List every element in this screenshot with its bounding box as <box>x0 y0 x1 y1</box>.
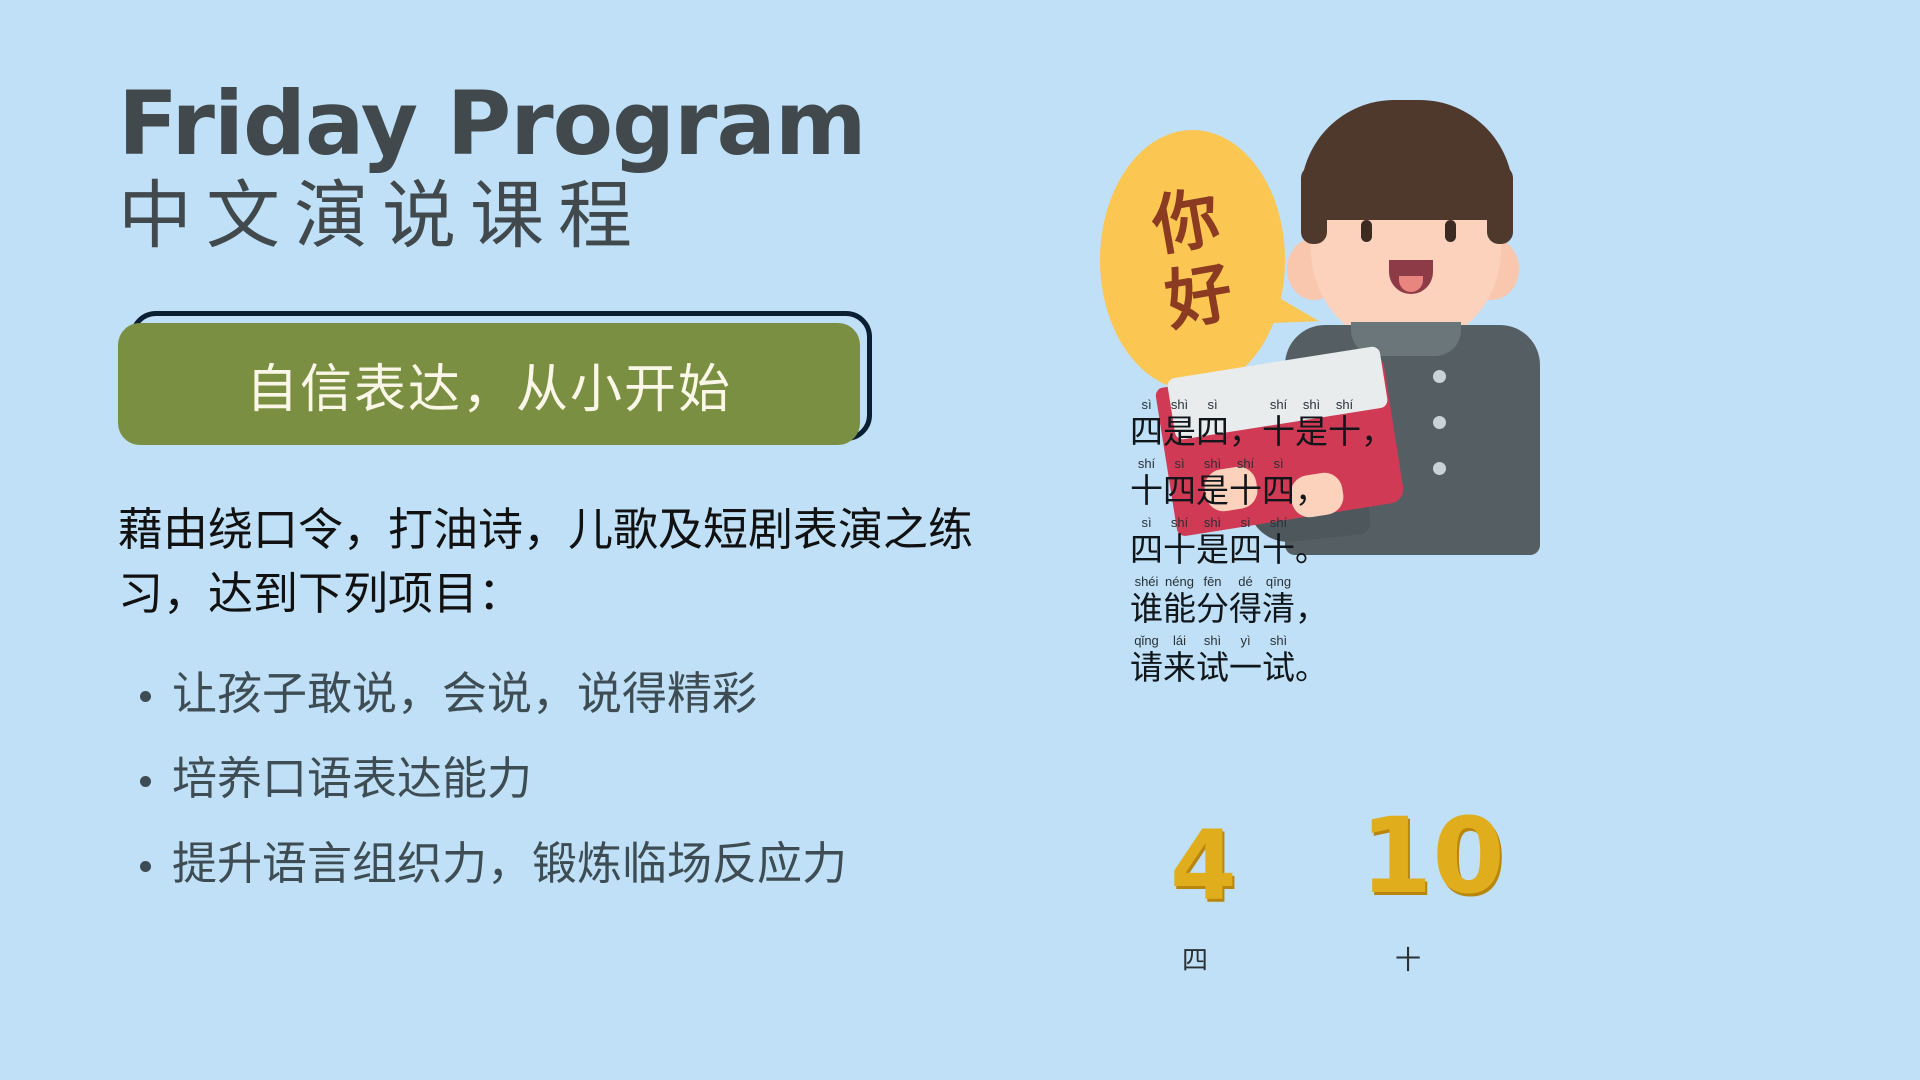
hanzi-glyph: 是 <box>1196 531 1229 569</box>
hanzi-glyph: 一 <box>1229 649 1262 687</box>
hanzi-glyph: 是 <box>1196 472 1229 510</box>
list-item: 培养口语表达能力 <box>118 756 1038 801</box>
hanzi-glyph: 来 <box>1163 649 1196 687</box>
tongue-twister-char: shí十 <box>1229 457 1262 510</box>
hanzi-glyph: 谁 <box>1130 590 1163 628</box>
tongue-twister-char: shí十 <box>1262 398 1295 451</box>
page-title-chinese: 中文演说课程 <box>118 174 1038 259</box>
hanzi-glyph: 四 <box>1130 531 1163 569</box>
speech-bubble-line-2: 好 <box>1160 254 1238 340</box>
hanzi-glyph: 四 <box>1229 531 1262 569</box>
hanzi-glyph: 四 <box>1262 472 1295 510</box>
hanzi-glyph: 是 <box>1163 413 1196 451</box>
hair-icon <box>1301 100 1513 220</box>
tongue-twister-line: sì四shí十shì是sì四shí十。 <box>1130 516 1550 569</box>
hanzi-glyph: 四 <box>1130 413 1163 451</box>
hanzi-glyph: 十 <box>1262 413 1295 451</box>
hanzi-glyph: 分 <box>1196 590 1229 628</box>
hanzi-glyph: 十 <box>1163 531 1196 569</box>
pinyin-label: qīng <box>1262 575 1295 590</box>
pinyin-label: shí <box>1130 457 1163 472</box>
hanzi-glyph: 是 <box>1295 413 1328 451</box>
pinyin-label: shì <box>1196 516 1229 531</box>
tongue-twister-char: shéi谁 <box>1130 575 1163 628</box>
benefits-list: 让孩子敢说，会说，说得精彩 培养口语表达能力 提升语言组织力，锻炼临场反应力 <box>118 671 1038 886</box>
hanzi-glyph: 试 <box>1196 649 1229 687</box>
pinyin-label: sì <box>1163 457 1196 472</box>
tongue-twister-char: yì一 <box>1229 634 1262 687</box>
page-title-english: Friday Program <box>118 80 1038 168</box>
shirt-button-icon <box>1433 370 1446 383</box>
gold-number-4-label: 四 <box>1182 940 1208 977</box>
pinyin-label: fēn <box>1196 575 1229 590</box>
hair-side-left-icon <box>1301 166 1327 244</box>
eye-right-icon <box>1445 220 1456 242</box>
left-content-column: Friday Program 中文演说课程 自信表达，从小开始 藉由绕口令，打油… <box>118 80 1038 926</box>
punctuation-glyph: ， <box>1361 413 1394 451</box>
hanzi-glyph: 清 <box>1262 590 1295 628</box>
punctuation-glyph: 。 <box>1295 531 1328 569</box>
pinyin-label: shí <box>1262 516 1295 531</box>
pinyin-label: yì <box>1229 634 1262 649</box>
pinyin-label: dé <box>1229 575 1262 590</box>
tagline-badge-label: 自信表达，从小开始 <box>246 347 732 422</box>
hanzi-glyph: 十 <box>1328 413 1361 451</box>
tongue-twister-char: shí十 <box>1163 516 1196 569</box>
tongue-twister-char: shì试 <box>1196 634 1229 687</box>
pinyin-label: sì <box>1229 516 1262 531</box>
hanzi-glyph: 四 <box>1163 472 1196 510</box>
pinyin-label: shí <box>1262 398 1295 413</box>
hanzi-glyph: 请 <box>1130 649 1163 687</box>
tongue-twister-char: qǐng请 <box>1130 634 1163 687</box>
pinyin-label: lái <box>1163 634 1196 649</box>
tongue-twister-char: dé得 <box>1229 575 1262 628</box>
tongue-twister-line: sì四shì是sì四，shí十shì是shí十， <box>1130 398 1550 451</box>
pinyin-label: shì <box>1196 457 1229 472</box>
tongue-twister-char: sì四 <box>1229 516 1262 569</box>
pinyin-label: qǐng <box>1130 634 1163 649</box>
tongue-twister-char: shì是 <box>1196 457 1229 510</box>
list-item: 提升语言组织力，锻炼临场反应力 <box>118 841 1038 886</box>
pinyin-label: shì <box>1262 634 1295 649</box>
tongue-twister-text: sì四shì是sì四，shí十shì是shí十，shí十sì四shì是shí十s… <box>1130 398 1550 693</box>
tongue-twister-char: sì四 <box>1130 398 1163 451</box>
tongue-twister-line: qǐng请lái来shì试yì一shì试。 <box>1130 634 1550 687</box>
hanzi-glyph: 十 <box>1130 472 1163 510</box>
hair-side-right-icon <box>1487 166 1513 244</box>
tongue-twister-char: néng能 <box>1163 575 1196 628</box>
pinyin-label: shéi <box>1130 575 1163 590</box>
pinyin-label: shí <box>1163 516 1196 531</box>
hanzi-glyph: 能 <box>1163 590 1196 628</box>
tongue-twister-char: shí十 <box>1328 398 1361 451</box>
pinyin-label: néng <box>1163 575 1196 590</box>
tongue-twister-char: lái来 <box>1163 634 1196 687</box>
tongue-twister-line: shí十sì四shì是shí十sì四， <box>1130 457 1550 510</box>
tagline-badge[interactable]: 自信表达，从小开始 <box>118 301 888 456</box>
poster-canvas: Friday Program 中文演说课程 自信表达，从小开始 藉由绕口令，打油… <box>0 0 1920 1080</box>
punctuation-glyph: ， <box>1295 472 1328 510</box>
eyebrow-right-icon <box>1431 198 1465 205</box>
pinyin-label: sì <box>1262 457 1295 472</box>
tongue-twister-char: shì是 <box>1295 398 1328 451</box>
eyebrow-left-icon <box>1349 198 1383 205</box>
hanzi-glyph: 十 <box>1262 531 1295 569</box>
tagline-badge-fill[interactable]: 自信表达，从小开始 <box>118 323 860 445</box>
gold-number-4: 4 <box>1170 810 1237 922</box>
illustration-area: 你 好 <box>1040 0 1920 1080</box>
tongue-twister-char: shì是 <box>1196 516 1229 569</box>
pinyin-label: sì <box>1130 398 1163 413</box>
tongue-twister-char: shí十 <box>1130 457 1163 510</box>
hanzi-glyph: 四 <box>1196 413 1229 451</box>
tongue-twister-char: shí十 <box>1262 516 1295 569</box>
tongue-twister-char: qīng清 <box>1262 575 1295 628</box>
punctuation-glyph: 。 <box>1295 649 1328 687</box>
hanzi-glyph: 得 <box>1229 590 1262 628</box>
tongue-twister-char: sì四 <box>1130 516 1163 569</box>
hanzi-glyph: 试 <box>1262 649 1295 687</box>
gold-number-10: 10 <box>1360 795 1505 917</box>
eye-left-icon <box>1361 220 1372 242</box>
pinyin-label: sì <box>1196 398 1229 413</box>
pinyin-label: shí <box>1328 398 1361 413</box>
tongue-twister-char: shì是 <box>1163 398 1196 451</box>
tongue-twister-char: sì四 <box>1196 398 1229 451</box>
pinyin-label: shì <box>1196 634 1229 649</box>
tongue-twister-char: fēn分 <box>1196 575 1229 628</box>
gold-number-10-label: 十 <box>1395 940 1421 977</box>
tongue-twister-char: sì四 <box>1163 457 1196 510</box>
pinyin-label: shí <box>1229 457 1262 472</box>
punctuation-glyph: ， <box>1229 413 1262 451</box>
speech-bubble-icon: 你 好 <box>1100 130 1285 390</box>
speech-bubble-line-1: 你 <box>1147 180 1225 266</box>
pinyin-label: sì <box>1130 516 1163 531</box>
tongue-twister-char: shì试 <box>1262 634 1295 687</box>
pinyin-label: shì <box>1295 398 1328 413</box>
tongue-twister-char: sì四 <box>1262 457 1295 510</box>
pinyin-label: shì <box>1163 398 1196 413</box>
punctuation-glyph: ， <box>1295 590 1328 628</box>
program-description: 藉由绕口令，打油诗，儿歌及短剧表演之练习，达到下列项目： <box>118 498 1018 626</box>
list-item: 让孩子敢说，会说，说得精彩 <box>118 671 1038 716</box>
hanzi-glyph: 十 <box>1229 472 1262 510</box>
tongue-twister-line: shéi谁néng能fēn分dé得qīng清， <box>1130 575 1550 628</box>
